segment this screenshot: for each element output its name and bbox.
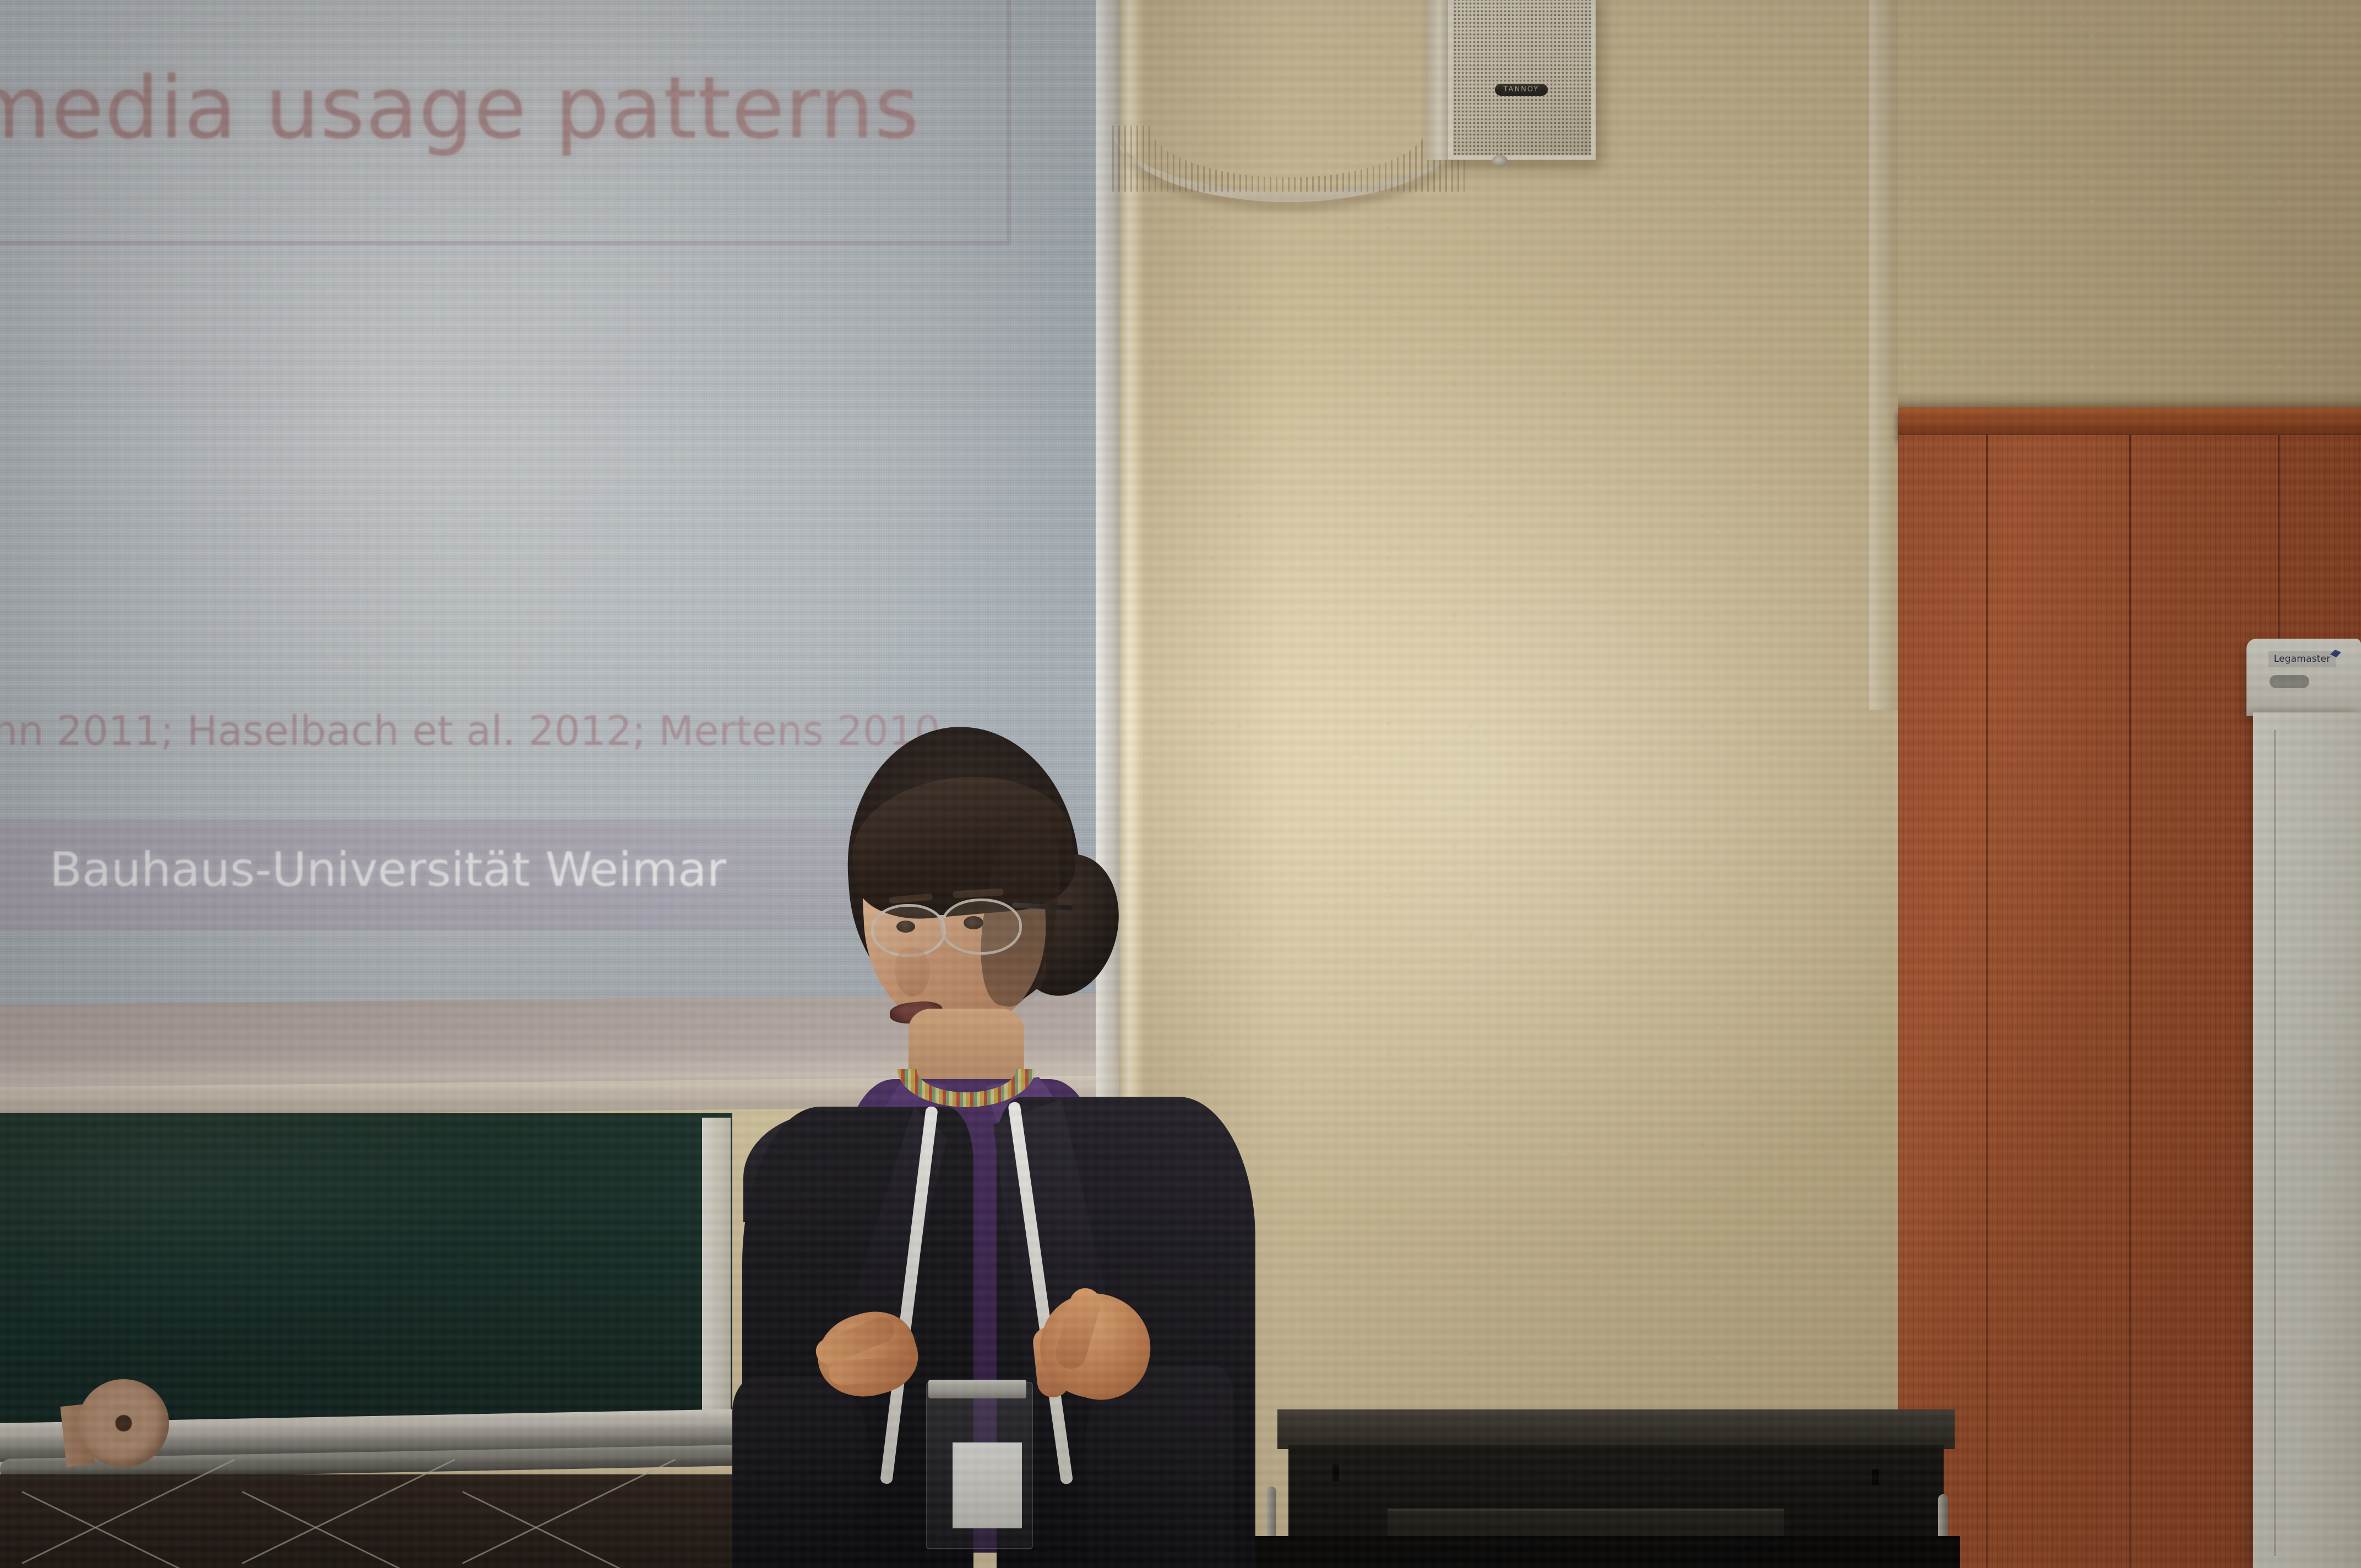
jacket-sleeve-left [732,1376,870,1568]
cabinet-screw-left [1332,1464,1339,1481]
speaker-mount-screw [1492,155,1508,167]
flipchart-slot [2270,675,2309,688]
slide-title-text: media usage patterns [0,58,920,158]
felt-eraser-roll [78,1379,169,1467]
badge-clip-bar [928,1380,1026,1398]
presenter-figure [677,727,1316,1568]
badge-card [953,1442,1022,1528]
wall-speaker: TANNOY [1448,0,1596,160]
flipchart-board [2253,712,2361,1568]
front-desk-panel [0,1474,782,1568]
cabinet-screw-right [1872,1469,1879,1485]
speaker-brand-badge: TANNOY [1495,84,1548,96]
glasses-bridge [938,915,946,918]
nose [895,947,929,997]
glasses-lens-right [940,899,1022,955]
flipchart-brand-label: Legamaster [2268,651,2336,667]
wood-panel-rail [1898,407,2361,438]
cabinet-top-surface [1277,1409,1955,1449]
speaker-grille [1453,0,1591,155]
wall-pilaster-right [1869,0,1898,710]
photograph-canvas: media usage patterns ann 2011; Haselbach… [0,0,2361,1568]
cable-conduit-ribs [1112,126,1465,192]
foreground-shadow [1250,1536,1960,1568]
slide-footer-text: Bauhaus-Universität Weimar [50,842,726,897]
flipchart-page-edge [2274,730,2276,1556]
